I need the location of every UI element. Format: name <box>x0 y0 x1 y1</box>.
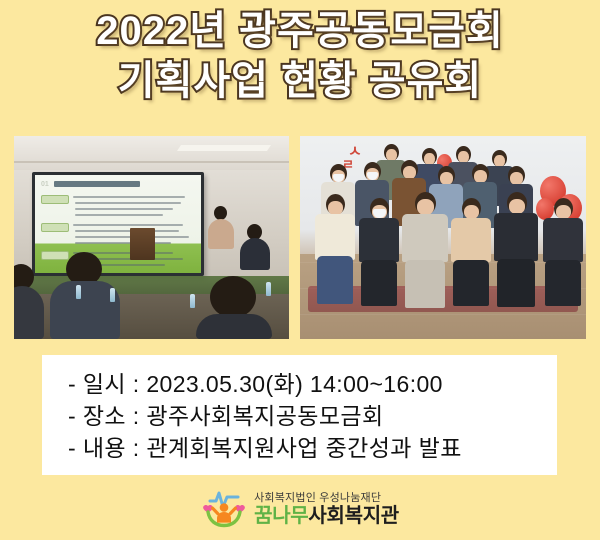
slide-text <box>75 230 179 232</box>
person-body <box>359 218 399 262</box>
logo-title: 꿈나무사회복지관 <box>254 506 399 526</box>
projector-screen: 01 <box>32 172 204 276</box>
event-info-box: - 일시 : 2023.05.30(화) 14:00~16:00 - 장소 : … <box>42 355 557 475</box>
title-line-1: 2022년 광주공동모금회 <box>0 6 600 56</box>
slide-text <box>73 224 183 226</box>
poster-root: 2022년 광주공동모금회 기획사업 현황 공유회 01 <box>0 0 600 540</box>
person-legs <box>497 259 535 307</box>
water-bottle <box>76 285 81 299</box>
person-legs <box>453 260 489 306</box>
person-body <box>402 214 448 262</box>
ceiling-edge <box>14 161 289 163</box>
conference-room-scene: 01 <box>14 136 289 339</box>
person-body <box>315 214 355 260</box>
person-face <box>464 205 479 219</box>
group-photo: ㅅ ㄹ <box>300 136 586 339</box>
person-legs <box>545 260 581 306</box>
logo-subtitle: 사회복지법인 우성나눔재단 <box>254 493 399 504</box>
balloon <box>536 198 554 220</box>
person-face <box>417 199 434 215</box>
info-line-content: - 내용 : 관계회복지원사업 중간성과 발표 <box>68 432 557 464</box>
attendee-body <box>196 314 272 339</box>
slide-text <box>75 242 171 244</box>
person-body <box>494 213 538 261</box>
slide-number-icon: 01 <box>41 181 49 188</box>
info-line-date: - 일시 : 2023.05.30(화) 14:00~16:00 <box>68 368 557 400</box>
person-body <box>543 218 583 262</box>
info-line-place: - 장소 : 광주사회복지공동모금회 <box>68 400 557 432</box>
attendee-body <box>240 238 270 270</box>
slide-surface: 01 <box>35 175 201 273</box>
footer-logo: 사회복지법인 우성나눔재단 꿈나무사회복지관 <box>0 484 600 534</box>
logo-text-block: 사회복지법인 우성나눔재단 꿈나무사회복지관 <box>254 493 399 526</box>
group-photo-scene: ㅅ ㄹ <box>300 136 586 339</box>
photo-row: 01 <box>0 136 600 339</box>
slide-heading-bar <box>54 181 140 187</box>
title-line-2: 기획사업 현황 공유회 <box>0 56 600 106</box>
presentation-photo: 01 <box>14 136 289 339</box>
presenter-body <box>208 219 234 249</box>
water-bottle <box>190 294 195 308</box>
slide-text <box>73 196 185 198</box>
person-legs <box>405 260 445 308</box>
person-face <box>509 199 525 214</box>
logo-svg <box>201 488 247 530</box>
logo-title-dark: 사회복지관 <box>308 505 399 527</box>
slide-text <box>75 202 181 204</box>
floor-line <box>300 314 586 315</box>
slide-text <box>75 208 173 210</box>
logo-title-green: 꿈나무 <box>254 505 308 527</box>
person-face <box>556 205 571 219</box>
water-bottle <box>110 288 115 302</box>
organization-logo-icon <box>201 488 247 530</box>
presenter-head <box>214 206 227 220</box>
slide-tag-1 <box>41 195 69 204</box>
person-face <box>328 201 343 215</box>
slide-text <box>75 214 163 216</box>
person-body <box>451 218 491 262</box>
person-legs <box>361 260 397 306</box>
attendee-body <box>14 286 44 339</box>
podium <box>130 228 155 260</box>
person-legs <box>317 256 353 304</box>
ceiling-light <box>177 145 271 151</box>
page-title: 2022년 광주공동모금회 기획사업 현황 공유회 <box>0 6 600 106</box>
slide-tag-2 <box>41 223 69 232</box>
slide-tag-3 <box>41 251 69 260</box>
attendee-head <box>210 276 256 318</box>
ceiling <box>14 136 289 170</box>
water-bottle <box>266 282 271 296</box>
